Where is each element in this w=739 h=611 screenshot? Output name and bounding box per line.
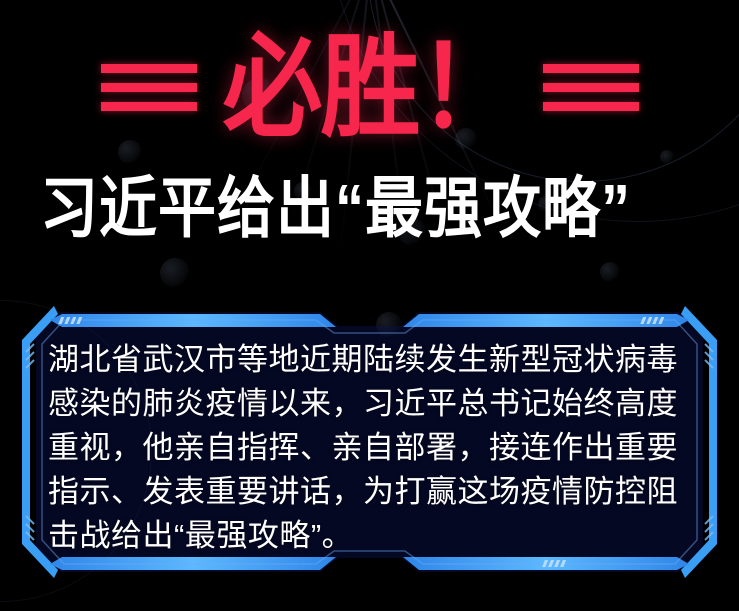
- bokeh-particle-icon: [600, 262, 620, 282]
- subtitle: 习近平给出“最强攻略”: [40, 176, 631, 243]
- decorative-bar-icon: [101, 64, 197, 73]
- decorative-bar-icon: [543, 83, 639, 92]
- body-text: 湖北省武汉市等地近期陆续发生新型冠状病毒感染的肺炎疫情以来，习近平总书记始终高度…: [48, 338, 692, 558]
- main-title: 必胜！: [223, 32, 517, 144]
- decorative-bar-icon: [543, 64, 639, 73]
- bokeh-particle-icon: [160, 258, 190, 288]
- body-text-frame: 湖北省武汉市等地近期陆续发生新型冠状病毒感染的肺炎疫情以来，习近平总书记始终高度…: [20, 300, 719, 584]
- decorative-bar-icon: [101, 83, 197, 92]
- decorative-bar-icon: [543, 102, 639, 111]
- headline-row: 必胜！: [0, 30, 739, 145]
- decorative-bars-left: [101, 64, 197, 111]
- decorative-bar-icon: [101, 102, 197, 111]
- decorative-bars-right: [543, 64, 639, 111]
- poster-canvas: 必胜！ 习近平给出“最强攻略”: [0, 0, 739, 611]
- bokeh-particle-icon: [660, 150, 674, 164]
